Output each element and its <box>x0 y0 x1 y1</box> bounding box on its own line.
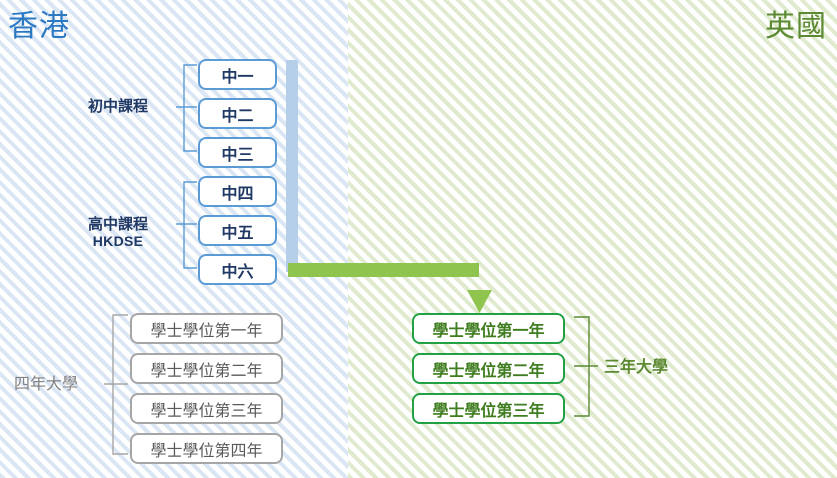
box-uk-degree-year-2-label: 學士學位第二年 <box>432 357 544 381</box>
box-hk-degree-year-1-label: 學士學位第一年 <box>150 317 262 341</box>
hk-university-bracket <box>104 313 130 457</box>
box-secondary-3[interactable]: 中三 <box>198 137 277 168</box>
hkdse-label: HKDSE <box>88 233 148 249</box>
box-secondary-2[interactable]: 中二 <box>198 98 277 129</box>
junior-secondary-label-text: 初中課程 <box>88 97 148 115</box>
box-secondary-3-label: 中三 <box>221 141 253 165</box>
box-hk-degree-year-1[interactable]: 學士學位第一年 <box>130 313 283 344</box>
senior-secondary-label-text: 高中課程 <box>88 215 148 233</box>
senior-secondary-bracket <box>176 179 200 271</box>
box-hk-degree-year-3-label: 學士學位第三年 <box>150 397 262 421</box>
uk-university-bracket <box>572 315 598 419</box>
hk-university-label: 四年大學 <box>14 375 78 393</box>
box-uk-degree-year-3[interactable]: 學士學位第三年 <box>412 393 565 424</box>
box-uk-degree-year-1-label: 學士學位第一年 <box>432 317 544 341</box>
box-secondary-5-label: 中五 <box>221 219 253 243</box>
box-hk-degree-year-4-label: 學士學位第四年 <box>150 437 262 461</box>
senior-secondary-label: 高中課程 HKDSE <box>88 216 148 249</box>
box-secondary-2-label: 中二 <box>221 102 253 126</box>
hk-university-label-text: 四年大學 <box>14 374 78 393</box>
box-uk-degree-year-3-label: 學士學位第三年 <box>432 397 544 421</box>
box-hk-degree-year-3[interactable]: 學士學位第三年 <box>130 393 283 424</box>
box-secondary-6-label: 中六 <box>221 258 253 282</box>
junior-secondary-bracket <box>176 62 200 154</box>
secondary-school-spine-bar <box>286 60 298 272</box>
uk-university-label-text: 三年大學 <box>604 357 668 376</box>
box-secondary-5[interactable]: 中五 <box>198 215 277 246</box>
uk-university-label: 三年大學 <box>604 358 668 376</box>
united-kingdom-title: 英國 <box>765 12 827 42</box>
education-pathway-diagram: 香港 英國 初中課程 中一 中二 中三 高中課程 HKDSE 中四 中五 中六 <box>0 0 837 478</box>
box-uk-degree-year-2[interactable]: 學士學位第二年 <box>412 353 565 384</box>
transition-arrow-hk-to-uk <box>288 258 518 320</box>
box-secondary-4-label: 中四 <box>221 180 253 204</box>
box-uk-degree-year-1[interactable]: 學士學位第一年 <box>412 313 565 344</box>
box-hk-degree-year-2[interactable]: 學士學位第二年 <box>130 353 283 384</box>
junior-secondary-label: 初中課程 <box>88 98 148 115</box>
hong-kong-title: 香港 <box>8 12 70 42</box>
box-secondary-1-label: 中一 <box>221 63 253 87</box>
box-secondary-6[interactable]: 中六 <box>198 254 277 285</box>
box-hk-degree-year-4[interactable]: 學士學位第四年 <box>130 433 283 464</box>
box-secondary-4[interactable]: 中四 <box>198 176 277 207</box>
box-hk-degree-year-2-label: 學士學位第二年 <box>150 357 262 381</box>
box-secondary-1[interactable]: 中一 <box>198 59 277 90</box>
